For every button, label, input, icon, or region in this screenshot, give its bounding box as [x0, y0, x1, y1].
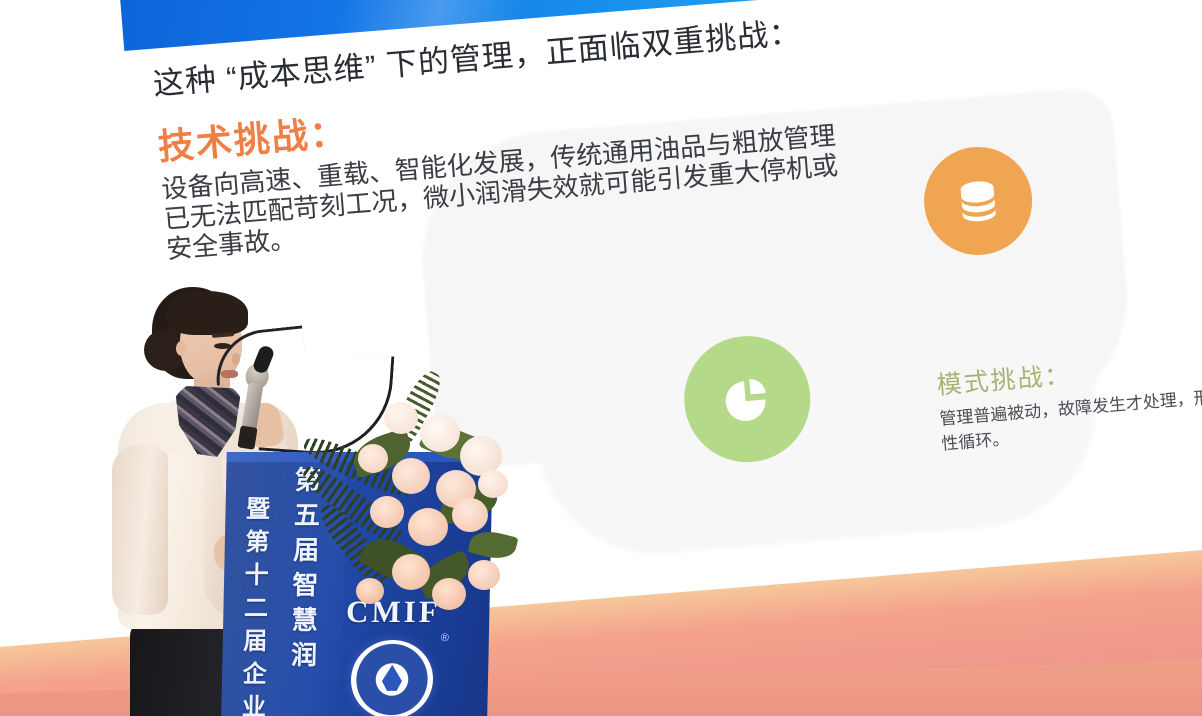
- gooseneck-microphone-secondary: [214, 330, 304, 382]
- rose: [384, 402, 418, 434]
- flower-arrangement: [300, 392, 540, 638]
- rose: [358, 444, 388, 473]
- rose: [392, 554, 430, 590]
- rose: [432, 578, 466, 610]
- podium-text-sub: 暨第十二届企业润滑: [232, 496, 273, 716]
- rose: [370, 496, 404, 528]
- rose: [392, 458, 430, 494]
- speaker-ear: [176, 341, 187, 356]
- rose: [420, 414, 460, 452]
- tech-challenge-heading: 技术挑战：: [156, 103, 350, 170]
- speaker-hair-front: [166, 291, 248, 335]
- rose: [478, 470, 508, 498]
- cmif-gear-emblem-icon: [350, 640, 434, 716]
- rose: [356, 578, 384, 604]
- speaker-left-sleeve: [112, 445, 168, 615]
- conference-photo-stage: 战 昆仑润 这种 “成本思维” 下的管理，正面临双重挑战： 技术挑战： 设备向高…: [0, 0, 1202, 716]
- foliage: [468, 527, 519, 563]
- rose: [468, 560, 500, 590]
- rose: [452, 498, 488, 532]
- rose: [408, 508, 448, 546]
